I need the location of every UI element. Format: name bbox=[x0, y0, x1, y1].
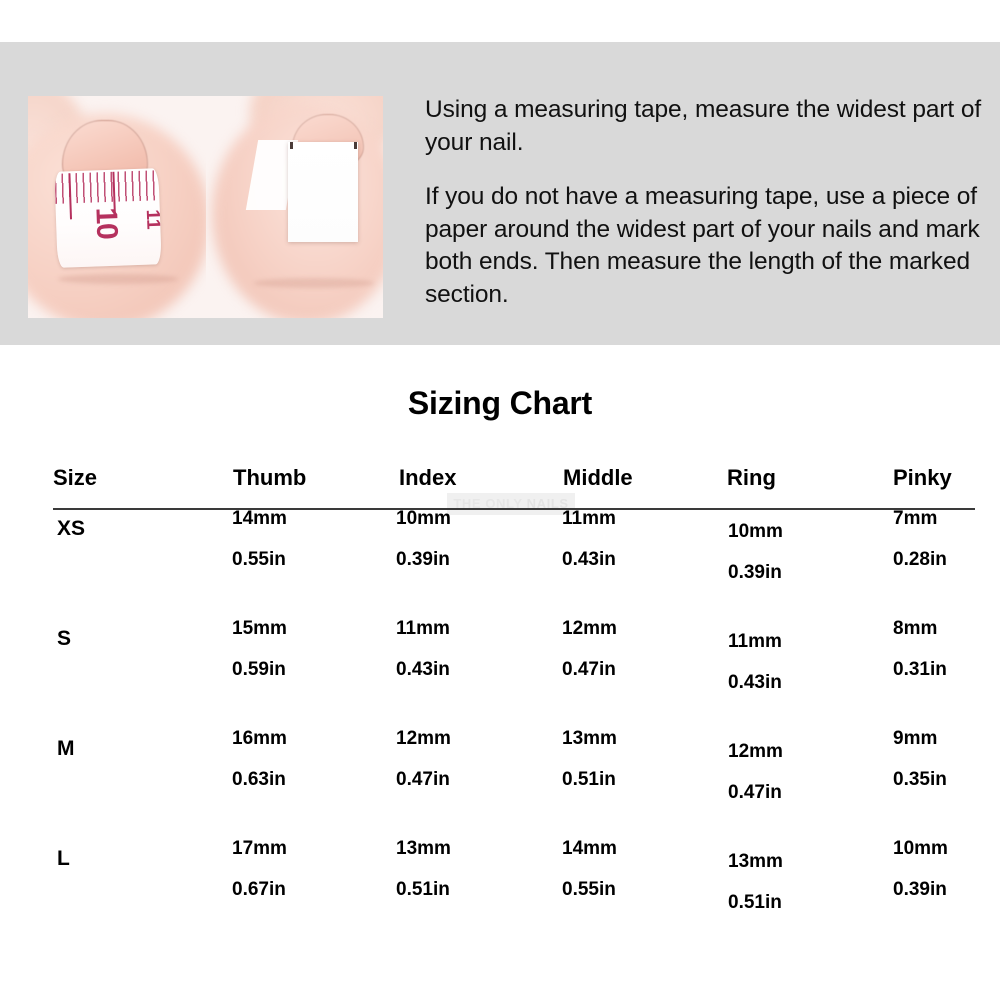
value-mm: 17mm bbox=[232, 839, 287, 858]
knuckle-crease bbox=[58, 274, 178, 284]
knuckle-crease bbox=[254, 278, 374, 288]
value-inch: 0.43in bbox=[562, 550, 616, 569]
value-mm: 11mm bbox=[728, 632, 782, 651]
instruction-band: 10 11 Using a measuring tape, measure th… bbox=[0, 42, 1000, 345]
value-mm: 13mm bbox=[562, 729, 617, 748]
cell-ring: 11mm 0.43in bbox=[728, 632, 782, 692]
value-inch: 0.43in bbox=[728, 673, 782, 692]
cell-thumb: 14mm 0.55in bbox=[232, 509, 287, 569]
column-header-index: Index bbox=[399, 465, 456, 491]
page-title: Sizing Chart bbox=[0, 385, 1000, 422]
cell-ring: 12mm 0.47in bbox=[728, 742, 783, 802]
paper-mark-left bbox=[290, 142, 293, 149]
value-mm: 7mm bbox=[893, 509, 947, 528]
cell-index: 11mm 0.43in bbox=[396, 619, 450, 679]
cell-index: 10mm 0.39in bbox=[396, 509, 451, 569]
tape-number-secondary-label: 11 bbox=[141, 209, 162, 230]
value-inch: 0.59in bbox=[232, 660, 287, 679]
value-inch: 0.31in bbox=[893, 660, 947, 679]
value-inch: 0.35in bbox=[893, 770, 947, 789]
photo-tape-measure: 10 11 bbox=[28, 96, 206, 318]
value-mm: 12mm bbox=[728, 742, 783, 761]
value-mm: 11mm bbox=[562, 509, 616, 528]
photo-paper-strip bbox=[206, 96, 383, 318]
cell-pinky: 8mm 0.31in bbox=[893, 619, 947, 679]
value-mm: 14mm bbox=[232, 509, 287, 528]
paper-mark-right bbox=[354, 142, 357, 149]
value-mm: 14mm bbox=[562, 839, 617, 858]
value-inch: 0.47in bbox=[562, 660, 617, 679]
value-mm: 9mm bbox=[893, 729, 947, 748]
row-label-size: XS bbox=[57, 517, 85, 541]
value-inch: 0.39in bbox=[728, 563, 783, 582]
value-inch: 0.63in bbox=[232, 770, 287, 789]
value-inch: 0.43in bbox=[396, 660, 450, 679]
value-inch: 0.51in bbox=[728, 893, 783, 912]
cell-thumb: 15mm 0.59in bbox=[232, 619, 287, 679]
value-mm: 13mm bbox=[396, 839, 451, 858]
value-mm: 10mm bbox=[396, 509, 451, 528]
cell-thumb: 17mm 0.67in bbox=[232, 839, 287, 899]
value-mm: 15mm bbox=[232, 619, 287, 638]
value-mm: 10mm bbox=[893, 839, 948, 858]
instruction-text-block: Using a measuring tape, measure the wide… bbox=[425, 94, 985, 311]
tape-number-label: 10 bbox=[88, 207, 123, 240]
value-inch: 0.39in bbox=[893, 880, 948, 899]
value-inch: 0.55in bbox=[562, 880, 617, 899]
row-label-size: L bbox=[57, 847, 70, 871]
value-inch: 0.28in bbox=[893, 550, 947, 569]
value-inch: 0.51in bbox=[562, 770, 617, 789]
table-header-row: Size Thumb Index Middle Ring Pinky THE O… bbox=[0, 465, 1000, 509]
column-header-ring: Ring bbox=[727, 465, 776, 491]
cell-pinky: 10mm 0.39in bbox=[893, 839, 948, 899]
value-inch: 0.47in bbox=[728, 783, 783, 802]
value-mm: 12mm bbox=[562, 619, 617, 638]
value-mm: 11mm bbox=[396, 619, 450, 638]
cell-middle: 11mm 0.43in bbox=[562, 509, 616, 569]
instruction-paragraph-1: Using a measuring tape, measure the wide… bbox=[425, 94, 985, 159]
row-label-size: S bbox=[57, 627, 71, 651]
paper-strip-icon bbox=[288, 142, 358, 242]
instruction-photo-strip: 10 11 bbox=[28, 96, 383, 318]
cell-index: 13mm 0.51in bbox=[396, 839, 451, 899]
cell-index: 12mm 0.47in bbox=[396, 729, 451, 789]
cell-pinky: 7mm 0.28in bbox=[893, 509, 947, 569]
cell-ring: 10mm 0.39in bbox=[728, 522, 783, 582]
row-label-size: M bbox=[57, 737, 75, 761]
value-mm: 12mm bbox=[396, 729, 451, 748]
table-row: M 16mm 0.63in 12mm 0.47in 13mm 0.51in 12… bbox=[0, 729, 1000, 839]
column-header-pinky: Pinky bbox=[893, 465, 952, 491]
value-mm: 8mm bbox=[893, 619, 947, 638]
column-header-thumb: Thumb bbox=[233, 465, 306, 491]
value-mm: 16mm bbox=[232, 729, 287, 748]
instruction-paragraph-2: If you do not have a measuring tape, use… bbox=[425, 181, 985, 311]
table-row: L 17mm 0.67in 13mm 0.51in 14mm 0.55in 13… bbox=[0, 839, 1000, 949]
cell-middle: 14mm 0.55in bbox=[562, 839, 617, 899]
value-mm: 13mm bbox=[728, 852, 783, 871]
value-inch: 0.47in bbox=[396, 770, 451, 789]
table-row: S 15mm 0.59in 11mm 0.43in 12mm 0.47in 11… bbox=[0, 619, 1000, 729]
measuring-tape-icon: 10 11 bbox=[54, 168, 161, 268]
column-header-size: Size bbox=[53, 465, 97, 491]
value-inch: 0.39in bbox=[396, 550, 451, 569]
value-inch: 0.51in bbox=[396, 880, 451, 899]
cell-middle: 13mm 0.51in bbox=[562, 729, 617, 789]
value-mm: 10mm bbox=[728, 522, 783, 541]
cell-pinky: 9mm 0.35in bbox=[893, 729, 947, 789]
column-header-middle: Middle bbox=[563, 465, 633, 491]
value-inch: 0.55in bbox=[232, 550, 287, 569]
cell-thumb: 16mm 0.63in bbox=[232, 729, 287, 789]
cell-middle: 12mm 0.47in bbox=[562, 619, 617, 679]
value-inch: 0.67in bbox=[232, 880, 287, 899]
sizing-chart-table: Size Thumb Index Middle Ring Pinky THE O… bbox=[0, 465, 1000, 949]
cell-ring: 13mm 0.51in bbox=[728, 852, 783, 912]
table-row: XS 14mm 0.55in 10mm 0.39in 11mm 0.43in 1… bbox=[0, 509, 1000, 619]
